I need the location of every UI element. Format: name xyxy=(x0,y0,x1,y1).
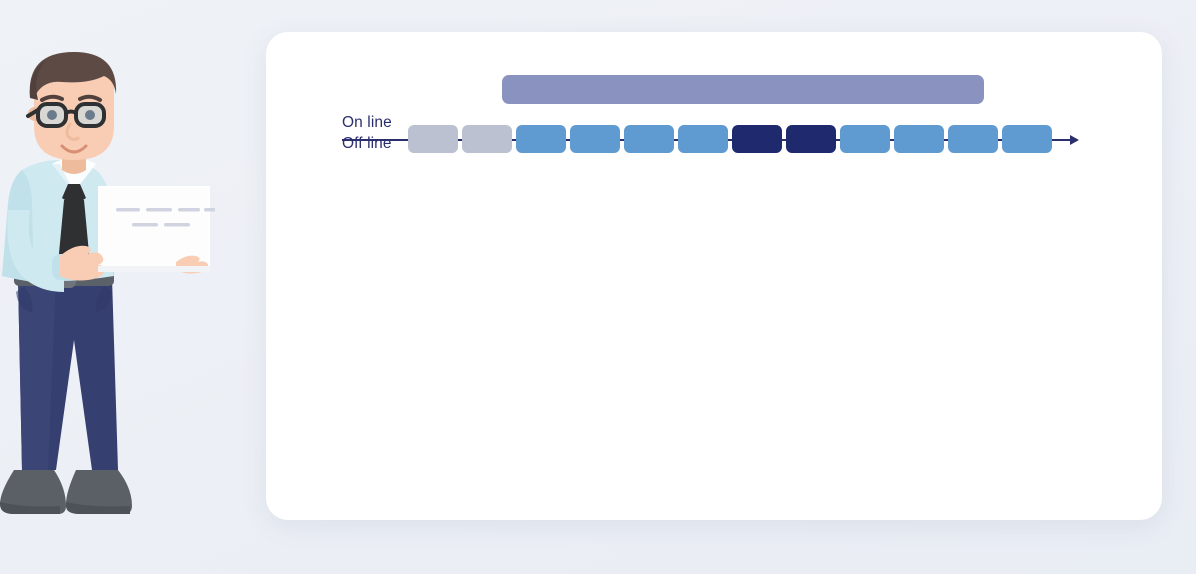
timeline-block-2[interactable] xyxy=(462,125,512,153)
timeline-block-1[interactable] xyxy=(408,125,458,153)
timeline-block-6[interactable] xyxy=(678,125,728,153)
title-placeholder-bar xyxy=(502,75,984,104)
content-panel xyxy=(266,32,1162,520)
timeline-block-row xyxy=(408,125,1052,153)
glasses-icon xyxy=(28,104,104,126)
axis-label-off-line: Off line xyxy=(342,133,402,154)
screen: On line Off line xyxy=(0,0,1196,574)
timeline-block-9[interactable] xyxy=(840,125,890,153)
teacher-illustration xyxy=(0,40,215,520)
timeline-block-3[interactable] xyxy=(516,125,566,153)
timeline-block-12[interactable] xyxy=(1002,125,1052,153)
timeline-block-8[interactable] xyxy=(786,125,836,153)
arrow-right-icon xyxy=(1058,132,1080,148)
timeline-diagram: On line Off line xyxy=(336,112,1086,172)
timeline-block-4[interactable] xyxy=(570,125,620,153)
timeline-block-11[interactable] xyxy=(948,125,998,153)
timeline-block-7[interactable] xyxy=(732,125,782,153)
axis-label-on-line: On line xyxy=(342,112,402,133)
axis-label-group: On line Off line xyxy=(342,112,402,154)
timeline-block-5[interactable] xyxy=(624,125,674,153)
timeline-block-10[interactable] xyxy=(894,125,944,153)
